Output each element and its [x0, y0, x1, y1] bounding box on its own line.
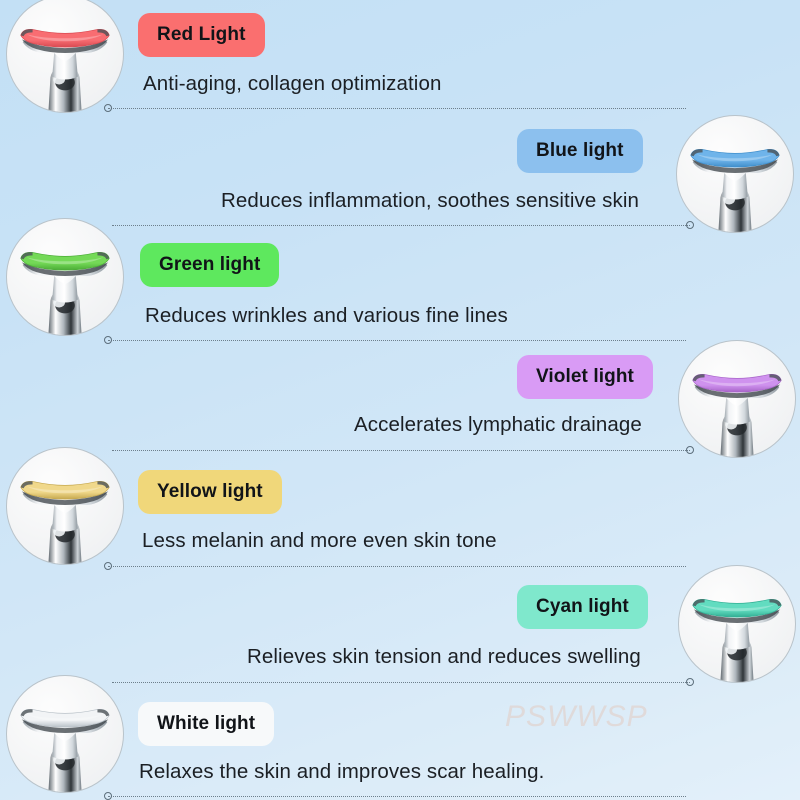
badge-cyan-light[interactable]: Cyan light	[517, 585, 648, 629]
description-violet-light: Accelerates lymphatic drainage	[354, 413, 642, 437]
product-photo-yellow-light	[6, 447, 124, 565]
separator-endpoint-dot	[104, 336, 112, 344]
badge-yellow-light[interactable]: Yellow light	[138, 470, 282, 514]
separator-line	[108, 108, 686, 109]
separator-endpoint-dot	[686, 221, 694, 229]
separator-yellow-light	[108, 562, 686, 571]
separator-line	[112, 682, 690, 683]
separator-green-light	[108, 336, 686, 345]
description-yellow-light: Less melanin and more even skin tone	[142, 529, 497, 553]
product-photo-green-light	[6, 218, 124, 336]
badge-white-light[interactable]: White light	[138, 702, 274, 746]
watermark-text: PSWWSP	[505, 700, 648, 734]
separator-endpoint-dot	[104, 792, 112, 800]
product-photo-cyan-light	[678, 565, 796, 683]
separator-red-light	[108, 104, 686, 113]
description-red-light: Anti-aging, collagen optimization	[143, 72, 441, 96]
badge-red-light[interactable]: Red Light	[138, 13, 265, 57]
separator-endpoint-dot	[686, 678, 694, 686]
badge-violet-light[interactable]: Violet light	[517, 355, 653, 399]
separator-endpoint-dot	[686, 446, 694, 454]
description-cyan-light: Relieves skin tension and reduces swelli…	[247, 645, 641, 669]
description-white-light: Relaxes the skin and improves scar heali…	[139, 760, 544, 784]
separator-line	[112, 225, 690, 226]
separator-line	[108, 796, 686, 797]
separator-white-light	[108, 792, 686, 800]
badge-blue-light[interactable]: Blue light	[517, 129, 643, 173]
separator-violet-light	[112, 446, 690, 455]
separator-blue-light	[112, 221, 690, 230]
product-photo-white-light	[6, 675, 124, 793]
separator-line	[108, 566, 686, 567]
separator-endpoint-dot	[104, 562, 112, 570]
description-green-light: Reduces wrinkles and various fine lines	[145, 304, 508, 328]
badge-green-light[interactable]: Green light	[140, 243, 279, 287]
separator-cyan-light	[112, 678, 690, 687]
product-photo-red-light	[6, 0, 124, 113]
separator-endpoint-dot	[104, 104, 112, 112]
product-photo-blue-light	[676, 115, 794, 233]
separator-line	[112, 450, 690, 451]
separator-line	[108, 340, 686, 341]
description-blue-light: Reduces inflammation, soothes sensitive …	[221, 189, 639, 213]
product-photo-violet-light	[678, 340, 796, 458]
